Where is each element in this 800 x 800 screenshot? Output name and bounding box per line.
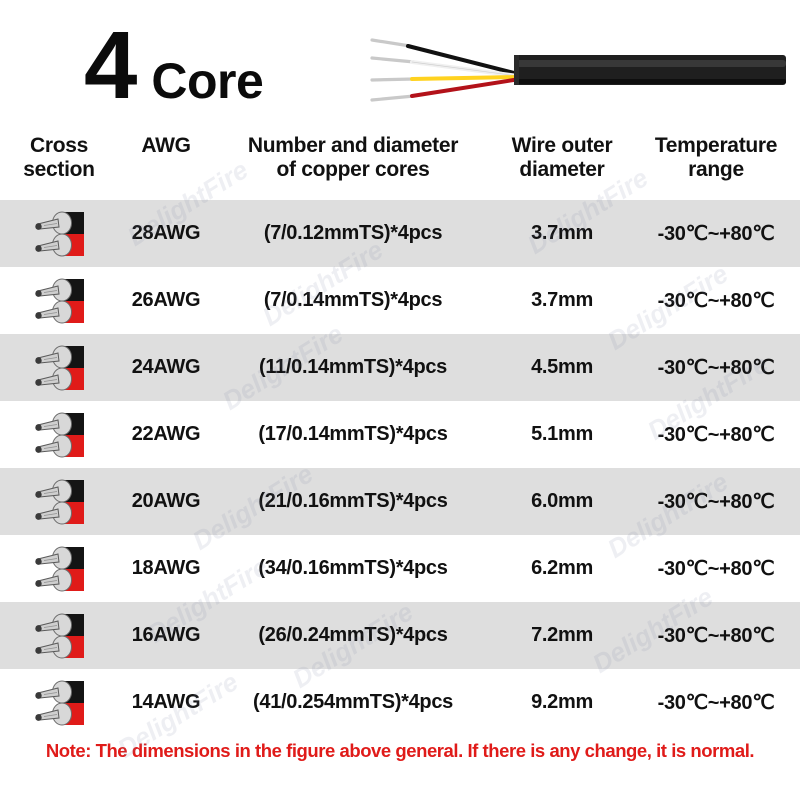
outer-diameter-cell: 3.7mm	[492, 289, 632, 312]
cable-cross-section-icon	[28, 208, 90, 260]
awg-cell: 26AWG	[118, 289, 214, 312]
outer-diameter-cell: 5.1mm	[492, 423, 632, 446]
cross-section-cell	[0, 409, 118, 461]
cores-cell: (7/0.12mmTS)*4pcs	[214, 222, 492, 245]
table-body: 28AWG(7/0.12mmTS)*4pcs3.7mm-30℃~+80℃ 26A…	[0, 200, 800, 736]
cross-section-cell	[0, 476, 118, 528]
outer-diameter-cell: 6.0mm	[492, 490, 632, 513]
table-row: 20AWG(21/0.16mmTS)*4pcs6.0mm-30℃~+80℃	[0, 468, 800, 535]
outer-diameter-cell: 6.2mm	[492, 557, 632, 580]
temperature-cell: -30℃~+80℃	[632, 489, 800, 514]
table-row: 16AWG(26/0.24mmTS)*4pcs7.2mm-30℃~+80℃	[0, 602, 800, 669]
outer-diameter-cell: 3.7mm	[492, 222, 632, 245]
outer-diameter-cell: 9.2mm	[492, 691, 632, 714]
column-header-cores-line2: of copper cores	[214, 158, 492, 182]
temperature-cell: -30℃~+80℃	[632, 623, 800, 648]
cores-cell: (26/0.24mmTS)*4pcs	[214, 624, 492, 647]
column-header-awg-line1: AWG	[118, 134, 214, 158]
table-row: 26AWG(7/0.14mmTS)*4pcs3.7mm-30℃~+80℃	[0, 267, 800, 334]
cable-cross-section-icon	[28, 275, 90, 327]
temperature-cell: -30℃~+80℃	[632, 556, 800, 581]
cable-cross-section-icon	[28, 342, 90, 394]
cores-cell: (7/0.14mmTS)*4pcs	[214, 289, 492, 312]
temperature-cell: -30℃~+80℃	[632, 690, 800, 715]
outer-diameter-cell: 4.5mm	[492, 356, 632, 379]
table-header-row: Cross section AWG Number and diameter of…	[0, 128, 800, 200]
column-header-cross-section: Cross section	[0, 134, 118, 182]
awg-cell: 18AWG	[118, 557, 214, 580]
awg-cell: 20AWG	[118, 490, 214, 513]
cores-cell: (17/0.14mmTS)*4pcs	[214, 423, 492, 446]
column-header-outer-diameter-line2: diameter	[492, 158, 632, 182]
cores-cell: (34/0.16mmTS)*4pcs	[214, 557, 492, 580]
column-header-temperature-line1: Temperature	[632, 134, 800, 158]
column-header-awg: AWG	[118, 134, 214, 158]
footer-note: Note: The dimensions in the figure above…	[0, 740, 800, 762]
table-row: 28AWG(7/0.12mmTS)*4pcs3.7mm-30℃~+80℃	[0, 200, 800, 267]
cross-section-cell	[0, 610, 118, 662]
cores-cell: (11/0.14mmTS)*4pcs	[214, 356, 492, 379]
awg-cell: 28AWG	[118, 222, 214, 245]
cable-cross-section-icon	[28, 677, 90, 729]
hero-banner: 4 Core	[0, 0, 800, 128]
table-row: 24AWG(11/0.14mmTS)*4pcs4.5mm-30℃~+80℃	[0, 334, 800, 401]
column-header-cores-line1: Number and diameter	[214, 134, 492, 158]
cross-section-cell	[0, 208, 118, 260]
outer-diameter-cell: 7.2mm	[492, 624, 632, 647]
specification-table: Cross section AWG Number and diameter of…	[0, 128, 800, 736]
cross-section-cell	[0, 342, 118, 394]
cable-cross-section-icon	[28, 543, 90, 595]
column-header-cores: Number and diameter of copper cores	[214, 134, 492, 182]
column-header-temperature: Temperature range	[632, 134, 800, 182]
temperature-cell: -30℃~+80℃	[632, 288, 800, 313]
column-header-temperature-line2: range	[632, 158, 800, 182]
cable-cross-section-icon	[28, 476, 90, 528]
awg-cell: 22AWG	[118, 423, 214, 446]
column-header-outer-diameter-line1: Wire outer	[492, 134, 632, 158]
cross-section-cell	[0, 543, 118, 595]
cable-cross-section-icon	[28, 409, 90, 461]
table-row: 18AWG(34/0.16mmTS)*4pcs6.2mm-30℃~+80℃	[0, 535, 800, 602]
awg-cell: 16AWG	[118, 624, 214, 647]
page-title: 4 Core	[84, 18, 263, 114]
column-header-cross-section-line1: Cross	[0, 134, 118, 158]
table-row: 14AWG(41/0.254mmTS)*4pcs9.2mm-30℃~+80℃	[0, 669, 800, 736]
temperature-cell: -30℃~+80℃	[632, 355, 800, 380]
column-header-cross-section-line2: section	[0, 158, 118, 182]
core-label: Core	[151, 56, 263, 106]
cable-illustration	[350, 22, 790, 118]
awg-cell: 24AWG	[118, 356, 214, 379]
temperature-cell: -30℃~+80℃	[632, 422, 800, 447]
cross-section-cell	[0, 677, 118, 729]
cores-cell: (21/0.16mmTS)*4pcs	[214, 490, 492, 513]
core-count-number: 4	[84, 18, 135, 114]
table-row: 22AWG(17/0.14mmTS)*4pcs5.1mm-30℃~+80℃	[0, 401, 800, 468]
awg-cell: 14AWG	[118, 691, 214, 714]
column-header-outer-diameter: Wire outer diameter	[492, 134, 632, 182]
cores-cell: (41/0.254mmTS)*4pcs	[214, 691, 492, 714]
temperature-cell: -30℃~+80℃	[632, 221, 800, 246]
cross-section-cell	[0, 275, 118, 327]
cable-cross-section-icon	[28, 610, 90, 662]
